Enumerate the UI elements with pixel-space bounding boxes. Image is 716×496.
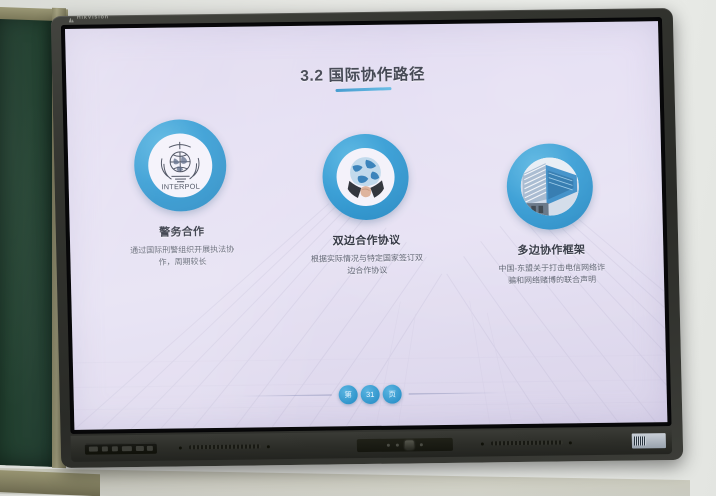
card-description: 根据实际情况与特定国家签订双边合作协议: [311, 252, 424, 277]
chalkboard: [0, 13, 60, 467]
brand-label: HikVision: [77, 14, 109, 20]
icon-ring: [321, 133, 409, 220]
card-title: 警务合作: [159, 223, 205, 240]
pagination-rule-right: [409, 392, 501, 394]
icon-ring: [506, 143, 594, 230]
card-multilateral-framework[interactable]: 多边协作框架 中国-东盟关于打击电信网络诈骗和网络赌博的联合声明: [467, 143, 634, 287]
classroom-scene: HikVision 3.2 国际协作路径: [0, 0, 716, 496]
building-framework-icon: [520, 157, 579, 216]
bezel-screw: [267, 445, 270, 448]
card-description: 中国-东盟关于打击电信网络诈骗和网络赌博的联合声明: [496, 262, 609, 287]
handshake-globe-icon: [335, 148, 394, 207]
title-underline: [335, 87, 391, 92]
svg-text:INTERPOL: INTERPOL: [161, 182, 200, 192]
card-police-cooperation[interactable]: INTERPOL 警务合作 通过国际刑警组织开展执法协作，周期较长: [97, 118, 264, 268]
icon-ring: INTERPOL: [133, 119, 227, 212]
interpol-logo-icon: INTERPOL: [151, 136, 210, 195]
device-label-sticker: [632, 433, 666, 448]
card-bilateral-agreement[interactable]: 双边合作协议 根据实际情况与特定国家签订双边合作协议: [282, 133, 449, 277]
card-description: 通过国际刑警组织开展执法协作，周期较长: [126, 244, 239, 269]
pagination-dot[interactable]: 页: [382, 385, 401, 404]
pagination-dots: 第 31 页: [338, 385, 401, 405]
speaker-grille-left: [189, 444, 261, 449]
card-row: INTERPOL 警务合作 通过国际刑警组织开展执法协作，周期较长: [97, 114, 634, 292]
icon-ring-hole: [520, 157, 579, 216]
hikvision-logo-icon: [69, 17, 74, 22]
slide-title: 3.2 国际协作路径: [66, 59, 660, 89]
sensor-dot: [387, 444, 390, 447]
bezel-screw: [481, 442, 484, 445]
sensor-dot: [420, 443, 423, 446]
icon-ring-hole: [335, 148, 394, 207]
interactive-flat-panel-display[interactable]: HikVision 3.2 国际协作路径: [51, 8, 684, 468]
bezel-screw: [179, 446, 182, 449]
bezel-screw: [569, 441, 572, 444]
port-panel[interactable]: [85, 443, 157, 455]
pagination-dot[interactable]: 31: [360, 385, 379, 404]
pagination-rule-left: [240, 394, 332, 396]
display-screen[interactable]: 3.2 国际协作路径: [65, 21, 667, 430]
power-button[interactable]: [405, 440, 414, 449]
card-title: 双边合作协议: [332, 232, 400, 249]
speaker-grille-right: [491, 440, 563, 445]
icon-ring-hole: INTERPOL: [147, 133, 213, 198]
presentation-slide: 3.2 国际协作路径: [65, 21, 667, 430]
pagination-dot[interactable]: 第: [338, 385, 357, 404]
card-title: 多边协作框架: [517, 241, 585, 258]
control-panel[interactable]: [357, 438, 453, 452]
slide-pagination: 第 31 页: [73, 381, 666, 408]
sensor-dot: [396, 444, 399, 447]
